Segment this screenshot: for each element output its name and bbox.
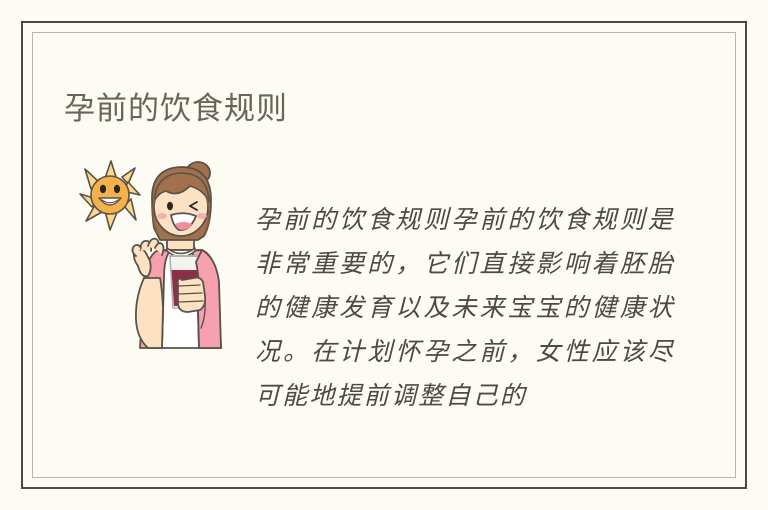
illustration-woman-drinking-juice <box>78 158 238 358</box>
hand-holding-glass <box>178 278 205 313</box>
woman-figure <box>132 162 221 348</box>
article-content: 孕前的饮食规则孕前的饮食规则是非常重要的，它们直接影响着胚胎的健康发育以及未来宝… <box>57 145 711 457</box>
sun-icon <box>80 161 140 230</box>
article-page: 孕前的饮食规则 <box>0 0 768 510</box>
article-body-text: 孕前的饮食规则孕前的饮食规则是非常重要的，它们直接影响着胚胎的健康发育以及未来宝… <box>255 198 675 418</box>
decorative-frame-outer: 孕前的饮食规则 <box>21 21 747 489</box>
page-title: 孕前的饮食规则 <box>64 88 288 130</box>
